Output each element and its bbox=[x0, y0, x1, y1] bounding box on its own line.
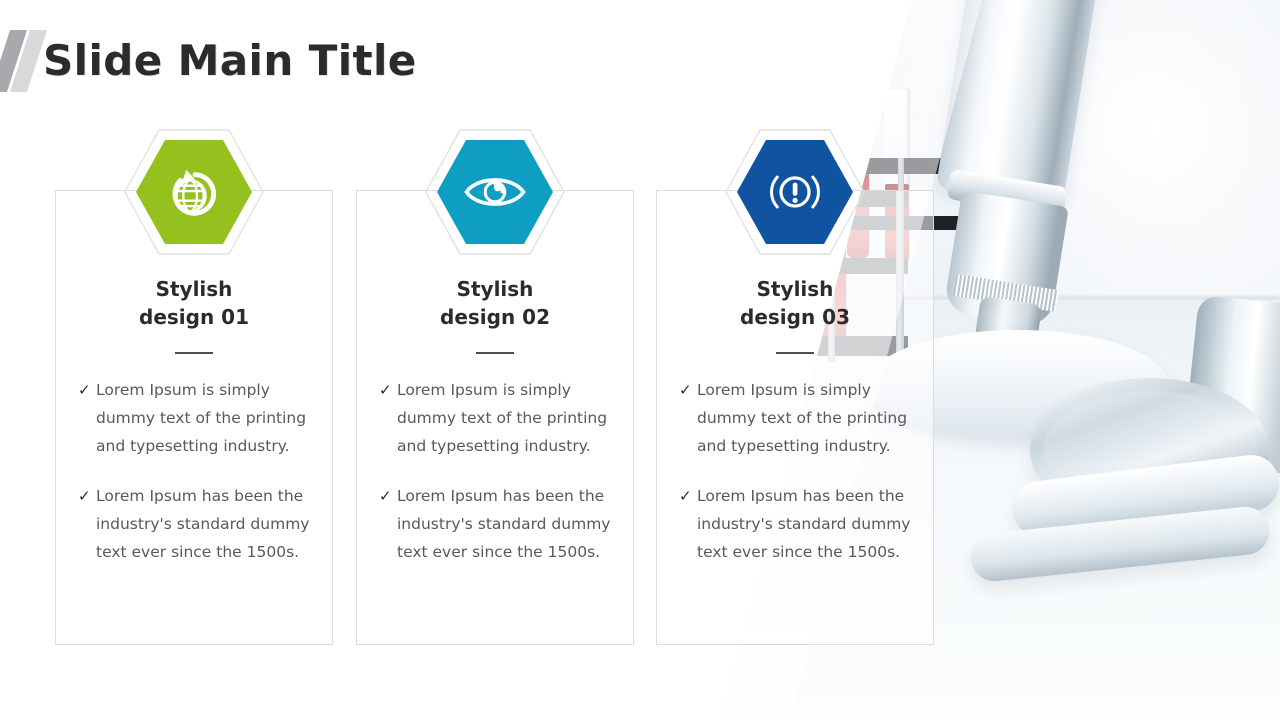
slide-canvas: Slide Main Title bbox=[0, 0, 1280, 720]
list-item: ✓ Lorem Ipsum is simply dummy text of th… bbox=[379, 376, 617, 460]
card-title-2: Stylish design 02 bbox=[357, 275, 633, 331]
bullet-text: Lorem Ipsum has been the industry's stan… bbox=[96, 482, 316, 566]
feature-card-2[interactable]: Stylish design 02 ✓ Lorem Ipsum is simpl… bbox=[356, 190, 634, 645]
alert-exclamation-icon bbox=[737, 140, 853, 244]
check-icon: ✓ bbox=[379, 376, 397, 460]
bullet-text: Lorem Ipsum is simply dummy text of the … bbox=[96, 376, 316, 460]
feature-card-3[interactable]: Stylish design 03 ✓ Lorem Ipsum is simpl… bbox=[656, 190, 934, 645]
check-icon: ✓ bbox=[679, 376, 697, 460]
card-divider bbox=[175, 352, 213, 354]
bullet-text: Lorem Ipsum has been the industry's stan… bbox=[397, 482, 617, 566]
bullet-text: Lorem Ipsum is simply dummy text of the … bbox=[397, 376, 617, 460]
check-icon: ✓ bbox=[379, 482, 397, 566]
check-icon: ✓ bbox=[78, 482, 96, 566]
hex-badge-1 bbox=[124, 129, 264, 255]
card-bullets-3: ✓ Lorem Ipsum is simply dummy text of th… bbox=[679, 376, 917, 588]
list-item: ✓ Lorem Ipsum has been the industry's st… bbox=[679, 482, 917, 566]
card-title-line2: design 01 bbox=[139, 305, 249, 329]
card-divider bbox=[476, 352, 514, 354]
bullet-text: Lorem Ipsum is simply dummy text of the … bbox=[697, 376, 917, 460]
feature-card-1[interactable]: Stylish design 01 ✓ Lorem Ipsum is simpl… bbox=[55, 190, 333, 645]
eye-icon bbox=[437, 140, 553, 244]
check-icon: ✓ bbox=[679, 482, 697, 566]
hex-badge-3 bbox=[725, 129, 865, 255]
title-slash-decoration bbox=[0, 30, 46, 92]
check-icon: ✓ bbox=[78, 376, 96, 460]
card-title-line1: Stylish bbox=[457, 277, 534, 301]
card-bullets-1: ✓ Lorem Ipsum is simply dummy text of th… bbox=[78, 376, 316, 588]
card-title-line2: design 02 bbox=[440, 305, 550, 329]
card-title-line2: design 03 bbox=[740, 305, 850, 329]
globe-refresh-icon bbox=[136, 140, 252, 244]
list-item: ✓ Lorem Ipsum is simply dummy text of th… bbox=[679, 376, 917, 460]
card-title-3: Stylish design 03 bbox=[657, 275, 933, 331]
card-bullets-2: ✓ Lorem Ipsum is simply dummy text of th… bbox=[379, 376, 617, 588]
hex-badge-2 bbox=[425, 129, 565, 255]
list-item: ✓ Lorem Ipsum has been the industry's st… bbox=[379, 482, 617, 566]
list-item: ✓ Lorem Ipsum has been the industry's st… bbox=[78, 482, 316, 566]
card-divider bbox=[776, 352, 814, 354]
card-title-line1: Stylish bbox=[156, 277, 233, 301]
bullet-text: Lorem Ipsum has been the industry's stan… bbox=[697, 482, 917, 566]
card-title-line1: Stylish bbox=[757, 277, 834, 301]
card-title-1: Stylish design 01 bbox=[56, 275, 332, 331]
list-item: ✓ Lorem Ipsum is simply dummy text of th… bbox=[78, 376, 316, 460]
page-title: Slide Main Title bbox=[43, 36, 417, 85]
